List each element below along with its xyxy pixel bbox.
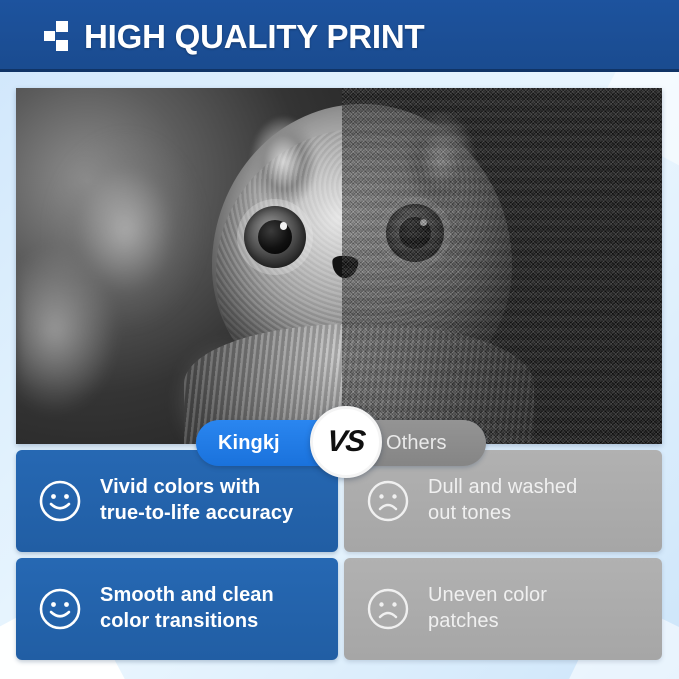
header-bar: HIGH QUALITY PRINT — [0, 0, 679, 72]
feature-card-bad-2-text: Uneven color patches — [428, 583, 547, 634]
feature-line-2: out tones — [428, 502, 511, 524]
feature-line-1: Uneven color — [428, 584, 547, 606]
blocks-icon — [44, 21, 70, 51]
feature-line-2: color transitions — [100, 610, 258, 632]
page-title: HIGH QUALITY PRINT — [84, 20, 424, 53]
sad-face-icon — [366, 479, 410, 523]
feature-line-1: Dull and washed — [428, 476, 577, 498]
feature-line-2: true-to-life accuracy — [100, 502, 293, 524]
feature-card-bad-1: Dull and washed out tones — [344, 450, 662, 552]
product-comparison-infographic: HIGH QUALITY PRINT — [0, 0, 679, 679]
feature-line-1: Vivid colors with — [100, 476, 260, 498]
photo-half-theirs — [342, 88, 662, 444]
feature-card-good-2: Smooth and clean color transitions — [16, 558, 338, 660]
comparison-photo-panel — [16, 88, 662, 444]
smiley-face-icon — [38, 479, 82, 523]
photo-half-ours — [16, 88, 342, 444]
feature-line-2: patches — [428, 610, 499, 632]
sad-face-icon — [366, 587, 410, 631]
feature-card-bad-2: Uneven color patches — [344, 558, 662, 660]
feature-card-bad-1-text: Dull and washed out tones — [428, 475, 577, 526]
feature-card-good-1-text: Vivid colors with true-to-life accuracy — [100, 475, 293, 526]
feature-line-1: Smooth and clean — [100, 584, 274, 606]
feature-card-good-1: Vivid colors with true-to-life accuracy — [16, 450, 338, 552]
feature-card-good-2-text: Smooth and clean color transitions — [100, 583, 274, 634]
smiley-face-icon — [38, 587, 82, 631]
